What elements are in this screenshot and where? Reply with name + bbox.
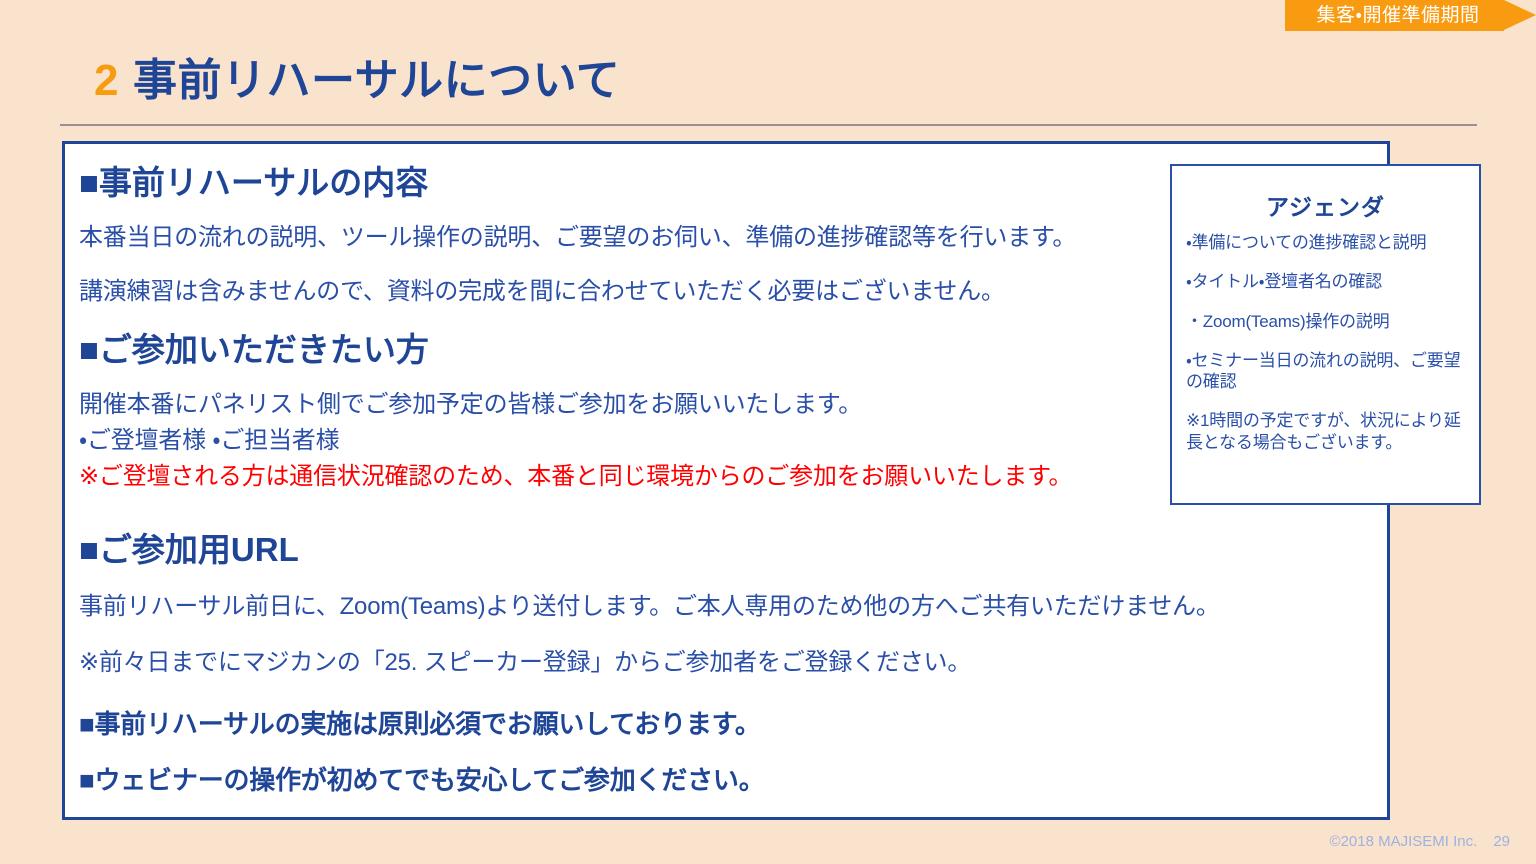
footer: ©2018 MAJISEMI Inc.29 (1330, 833, 1510, 850)
footer-copyright: ©2018 MAJISEMI Inc. (1330, 833, 1478, 850)
section-bullet-join-url-2: ■ウェビナーの操作が初めてでも安心してご参加ください。 (79, 760, 765, 797)
section-bullet-join-url-1: ■事前リハーサルの実施は原則必須でお願いしております。 (79, 704, 761, 741)
agenda-item: ・セミナー当日の流れの説明、ご要望の確認 (1186, 350, 1471, 393)
section-line-who-should-join-2: ・ご登壇者様 ・ご担当者様 (79, 425, 339, 456)
section-line-rehearsal-content-2: 講演練習は含みませんので、資料の完成を間に合わせていただく必要はございません。 (79, 276, 1005, 307)
agenda-title: アジェンダ (1172, 188, 1479, 222)
agenda-item: ・タイトル・登壇者名の確認 (1186, 271, 1471, 292)
section-line-join-url-1: 事前リハーサル前日に、Zoom(Teams)より送付します。ご本人専用のため他の… (79, 591, 1220, 622)
section-heading-rehearsal-content: ■事前リハーサルの内容 (79, 162, 428, 203)
title-divider (60, 124, 1477, 126)
section-line-who-should-join-1: 開催本番にパネリスト側でご参加予定の皆様ご参加をお願いいたします。 (79, 389, 862, 420)
agenda-list: ・準備についての進捗確認と説明 ・タイトル・登壇者名の確認 ・Zoom(Team… (1186, 232, 1471, 453)
page-title-number: 2 (94, 56, 119, 105)
agenda-item-note: ※1時間の予定ですが、状況により延長となる場合もございます。 (1186, 410, 1471, 453)
section-heading-who-should-join: ■ご参加いただきたい方 (79, 329, 429, 370)
footer-page-number: 29 (1493, 833, 1510, 850)
section-heading-join-url: ■ご参加用URL (79, 529, 299, 570)
section-line-join-url-2: ※前々日までにマジカンの「25. スピーカー登録」からご参加者をご登録ください。 (79, 647, 971, 678)
agenda-item: ・準備についての進捗確認と説明 (1186, 232, 1471, 253)
agenda-item: ・Zoom(Teams)操作の説明 (1186, 311, 1471, 332)
page-title: 2事前リハーサルについて (94, 44, 620, 108)
section-line-rehearsal-content-1: 本番当日の流れの説明、ツール操作の説明、ご要望のお伺い、準備の進捗確認等を行いま… (79, 222, 1076, 253)
phase-banner: 集客・開催準備期間 (1285, 0, 1536, 31)
phase-banner-label: 集客・開催準備期間 (1285, 0, 1511, 31)
page-title-text: 事前リハーサルについて (133, 56, 620, 105)
section-line-who-should-join-warning: ※ご登壇される方は通信状況確認のため、本番と同じ環境からのご参加をお願いいたしま… (79, 461, 1072, 492)
agenda-box: アジェンダ ・準備についての進捗確認と説明 ・タイトル・登壇者名の確認 ・Zoo… (1170, 164, 1481, 505)
